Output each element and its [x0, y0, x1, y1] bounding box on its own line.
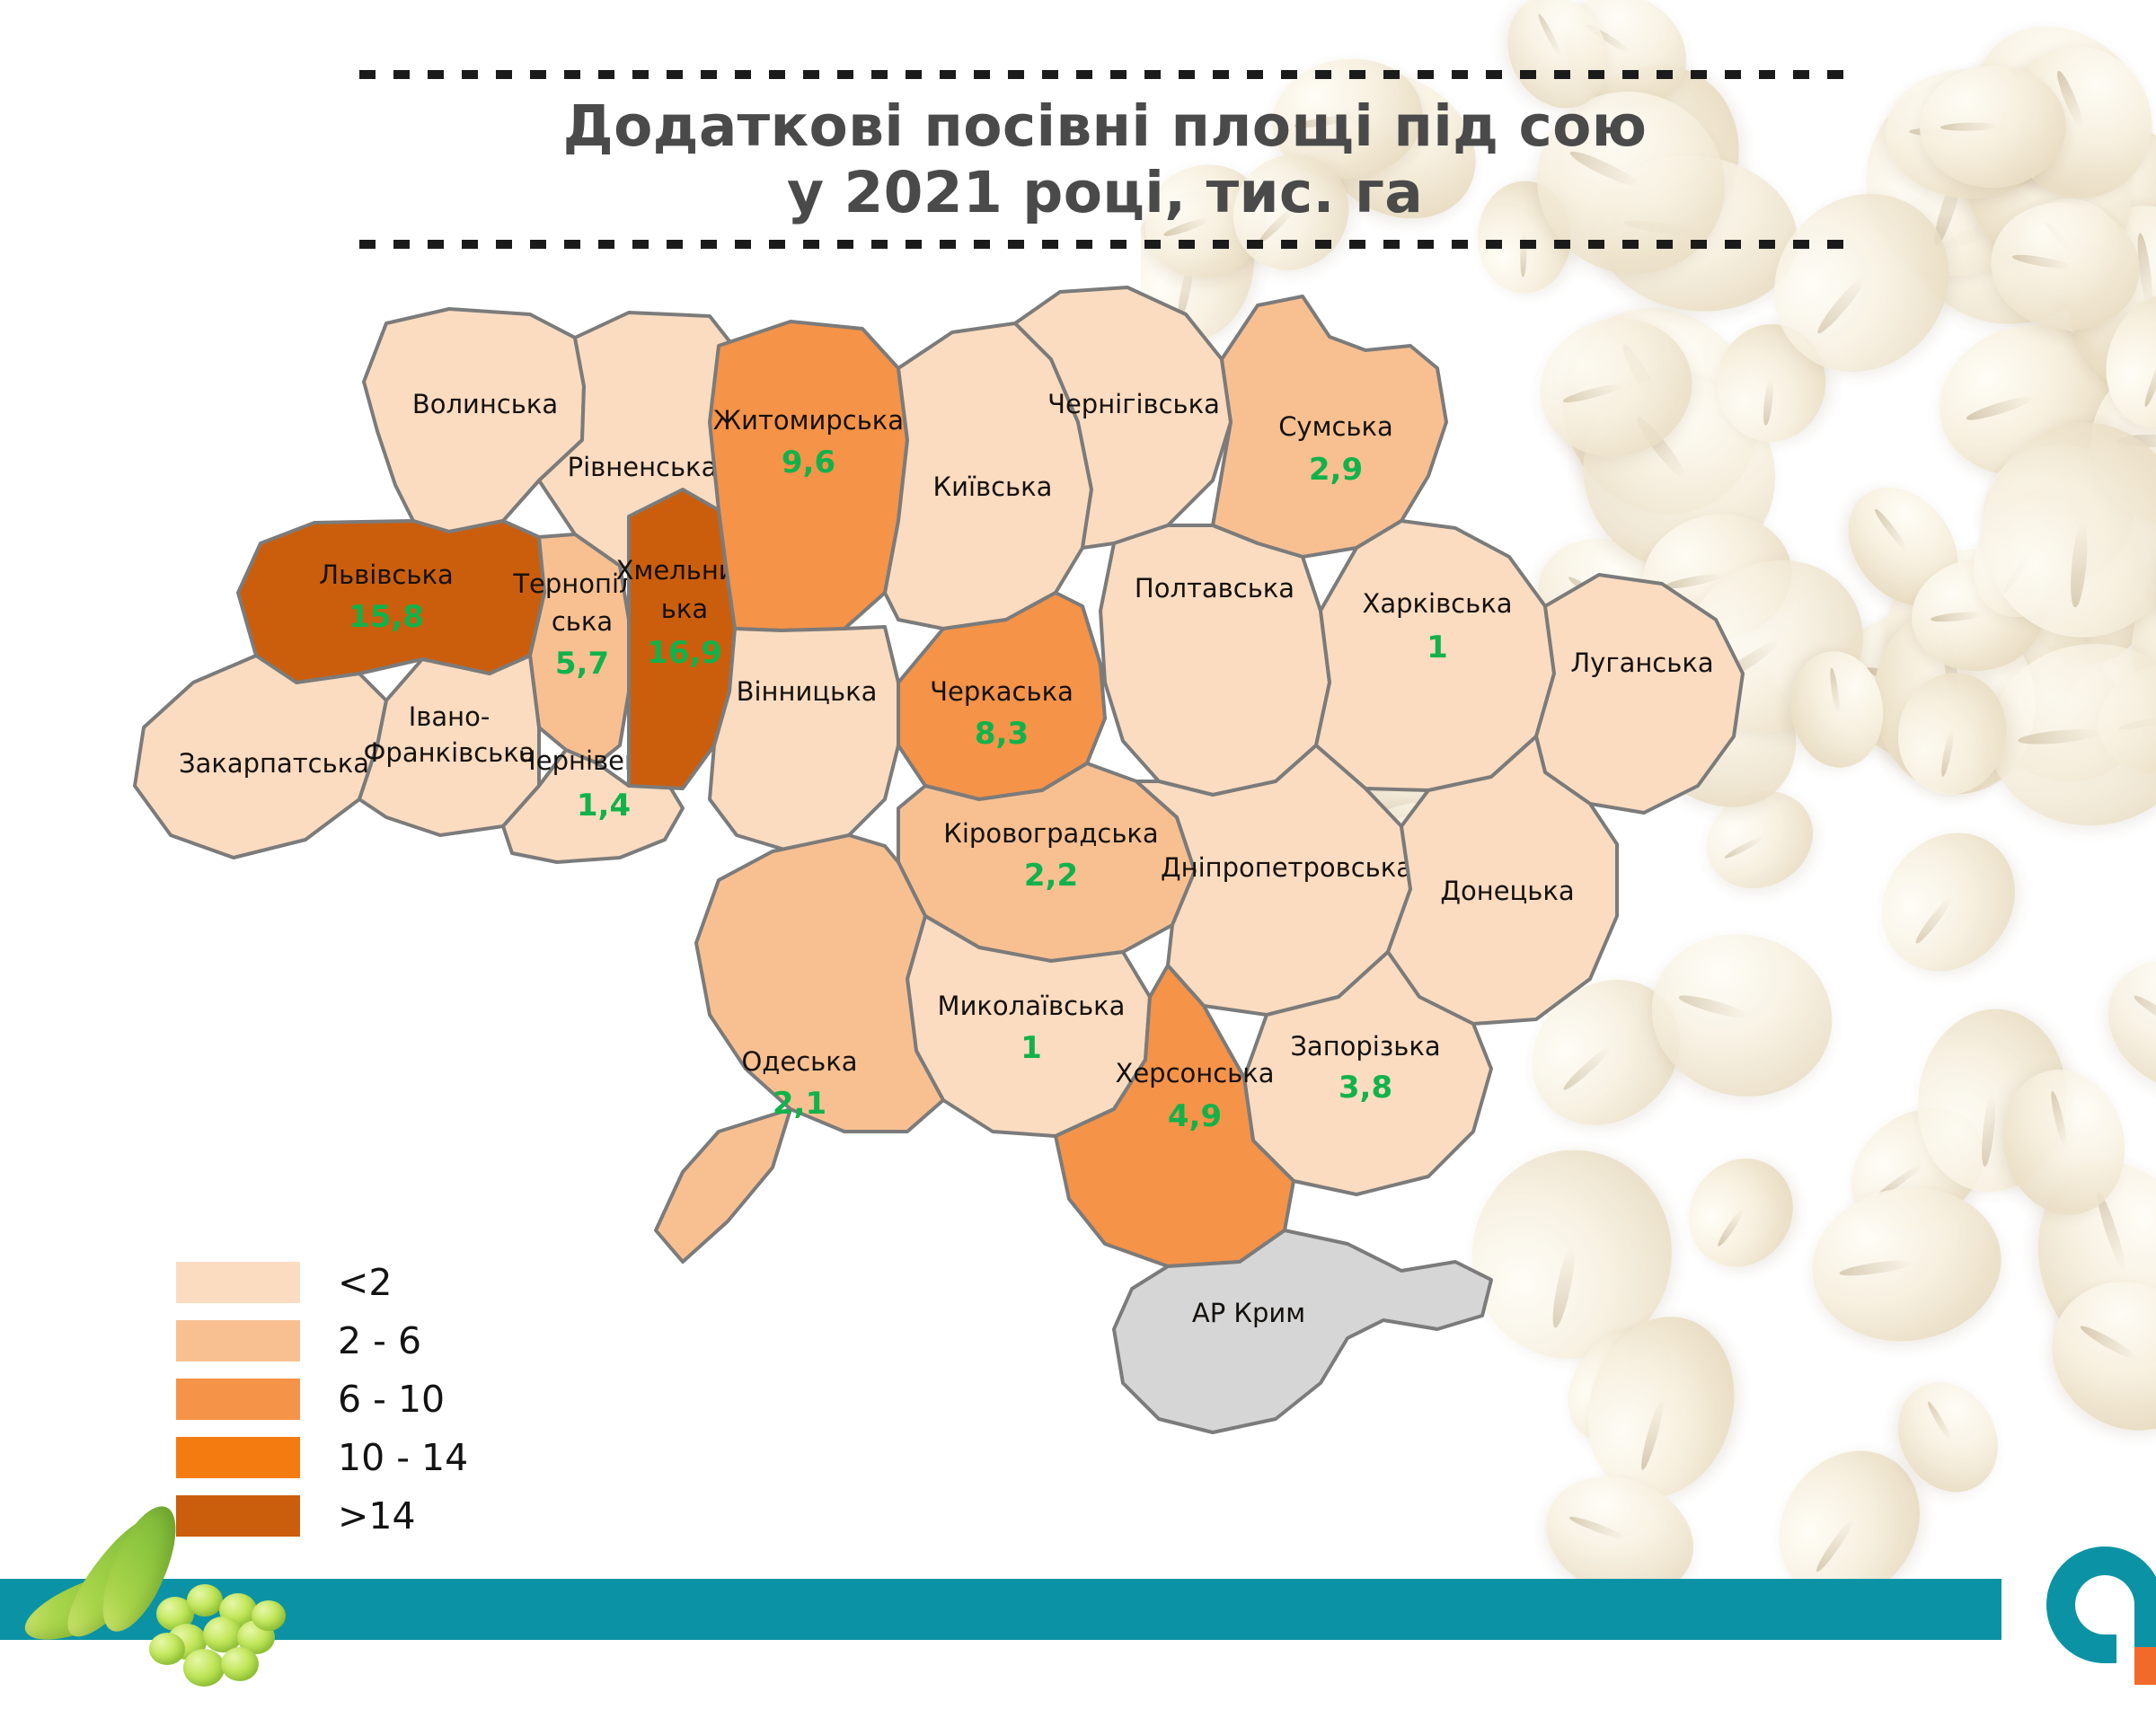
region-label-ivano-line1: Івано-: [409, 701, 490, 732]
region-label-mykolaiv: Миколаївська: [938, 991, 1126, 1021]
legend-item: 10 - 14: [176, 1434, 468, 1481]
dashed-rule-top: [359, 70, 1851, 79]
legend-label: <2: [338, 1264, 392, 1301]
soybean-seed: [183, 1649, 225, 1687]
soybean-seed-decoration: [1982, 471, 2156, 683]
soybean-seed-decoration: [1919, 64, 2068, 189]
brand-logo[interactable]: [2037, 1541, 2156, 1698]
region-sumy[interactable]: Сумська 2,9: [1213, 296, 1446, 557]
soybean-seed: [252, 1600, 286, 1631]
region-value-zaporizhzhia: 3,8: [1339, 1070, 1392, 1106]
dashed-rule-bottom: [359, 240, 1851, 249]
soybean-seed-decoration: [1947, 618, 2156, 807]
region-label-zakarpattia: Закарпатська: [179, 748, 369, 779]
region-label-rivne: Рівненська: [568, 452, 718, 482]
region-value-chernivtsi: 1,4: [577, 788, 631, 824]
region-label-kyiv: Київська: [933, 471, 1053, 502]
region-label-luhansk: Луганська: [1570, 648, 1713, 678]
soybean-seed-decoration: [2093, 537, 2156, 800]
soybean-seed-decoration: [2123, 479, 2156, 732]
soybean-seed-decoration: [1887, 663, 2017, 804]
soybean-seed-decoration: [1841, 53, 2077, 300]
soybean-seed-decoration: [1981, 191, 2150, 342]
region-label-sumy: Сумська: [1278, 411, 1393, 442]
legend-swatch: [176, 1320, 300, 1361]
region-shape-luhansk[interactable]: [1536, 575, 1743, 813]
region-ivano-frankivsk[interactable]: Івано- Франківська: [359, 656, 539, 835]
legend-item: <2: [176, 1259, 468, 1306]
region-zakarpattia[interactable]: Закарпатська: [135, 656, 386, 858]
soybean-seed-decoration: [1884, 67, 2056, 200]
soybean-seed-decoration: [1876, 88, 2150, 355]
soybean-seed-decoration: [2076, 296, 2156, 459]
logo-icon: [2037, 1541, 2156, 1698]
region-vinnytsia[interactable]: Вінницька: [710, 627, 898, 851]
region-poltava[interactable]: Полтавська: [1100, 525, 1330, 795]
region-value-odesa: 2,1: [773, 1086, 826, 1122]
region-luhansk[interactable]: Луганська: [1536, 575, 1743, 813]
region-label-dnipropetrovsk: Дніпропетровська: [1161, 852, 1412, 883]
region-label-chernihiv: Чернігівська: [1047, 389, 1220, 419]
legend-label: 10 - 14: [338, 1440, 468, 1476]
soybean-seed-decoration: [1983, 23, 2156, 220]
region-shape-poltava[interactable]: [1100, 525, 1330, 795]
legend-item: 2 - 6: [176, 1317, 468, 1364]
legend-label: 6 - 10: [338, 1381, 445, 1418]
map-legend: <22 - 66 - 1010 - 14>14: [176, 1259, 468, 1551]
soybean-seed-decoration: [2090, 356, 2156, 529]
region-label-kirovohrad: Кіровоградська: [943, 818, 1158, 849]
region-label-khmelnytskyi-line2: ька: [661, 594, 708, 624]
region-label-volyn: Волинська: [412, 389, 558, 419]
soybean-seed-decoration: [2056, 196, 2156, 405]
region-value-lviv: 15,8: [349, 599, 424, 635]
soybean-seed-decoration: [1931, 61, 2156, 306]
legend-swatch: [176, 1437, 300, 1478]
region-label-zhytomyr: Житомирська: [713, 405, 904, 436]
soybean-seed-decoration: [2013, 1141, 2156, 1388]
soybean-seed-decoration: [1906, 553, 2048, 677]
soybean-seed-decoration: [1944, 0, 2156, 221]
region-value-cherkasy: 8,3: [975, 716, 1029, 752]
soybean-pods-illustration: [16, 1527, 313, 1706]
legend-swatch: [176, 1262, 300, 1303]
region-label-ternopil-line2: ська: [552, 606, 613, 637]
soybean-seed-decoration: [2089, 652, 2156, 786]
region-value-kharkiv: 1: [1427, 630, 1448, 665]
soybean-seed-decoration: [1997, 177, 2145, 326]
soybean-seed: [221, 1647, 259, 1681]
region-label-kherson: Херсонська: [1115, 1058, 1274, 1088]
legend-label: 2 - 6: [338, 1323, 421, 1360]
region-value-khmelnytskyi: 16,9: [647, 635, 722, 671]
region-label-vinnytsia: Вінницька: [737, 676, 878, 707]
soybean-seed-decoration: [2088, 278, 2156, 444]
region-value-mykolaiv: 1: [1021, 1030, 1042, 1066]
region-label-poltava: Полтавська: [1135, 573, 1294, 604]
logo-orange-block: [2134, 1647, 2156, 1685]
soybean-seed-decoration: [1946, 586, 2137, 782]
region-value-ternopil: 5,7: [555, 646, 609, 682]
soybean-seed-decoration: [1980, 441, 2136, 586]
region-label-zaporizhzhia: Запорізька: [1290, 1031, 1440, 1062]
soybean-seed-decoration: [2028, 109, 2156, 267]
page-title: Додаткові посівні площі під сою у 2021 р…: [359, 79, 1851, 240]
soybean-seed-decoration: [1981, 635, 2156, 834]
soybean-seed: [187, 1584, 223, 1617]
region-label-odesa: Одеська: [741, 1046, 857, 1077]
region-label-cherkasy: Черкаська: [930, 676, 1074, 707]
region-label-crimea: АР Крим: [1192, 1298, 1305, 1328]
region-label-lviv: Львівська: [319, 560, 453, 590]
region-label-kharkiv: Харківська: [1362, 588, 1512, 619]
legend-swatch: [176, 1379, 300, 1420]
region-value-zhytomyr: 9,6: [782, 445, 835, 480]
region-shape-vinnytsia[interactable]: [710, 627, 898, 851]
region-odesa[interactable]: Одеська 2,1: [656, 835, 943, 1262]
region-lviv[interactable]: Львівська 15,8: [238, 521, 544, 683]
region-kharkiv[interactable]: Харківська 1: [1316, 521, 1554, 790]
soybean-seed-decoration: [2025, 1254, 2156, 1459]
legend-label: >14: [338, 1498, 416, 1535]
legend-item: 6 - 10: [176, 1376, 468, 1423]
soybean-seed: [149, 1633, 185, 1665]
header: Додаткові посівні площі під сою у 2021 р…: [359, 70, 1851, 249]
region-zhytomyr[interactable]: Житомирська 9,6: [710, 322, 907, 630]
soybean-seed-decoration: [1950, 466, 2113, 639]
region-value-kherson: 4,9: [1168, 1098, 1222, 1134]
region-label-donetsk: Донецька: [1440, 876, 1574, 906]
soybean-seed-decoration: [1974, 414, 2156, 646]
soybean-seed-decoration: [1921, 303, 2134, 498]
soybean-seed-decoration: [1908, 1001, 2075, 1199]
region-value-kirovohrad: 2,2: [1024, 858, 1078, 894]
soybean-seed-decoration: [2083, 935, 2156, 1116]
soybean-seed-decoration: [1989, 1057, 2139, 1227]
soybean-seed-decoration: [2124, 568, 2156, 714]
region-value-sumy: 2,9: [1309, 452, 1363, 488]
region-label-ivano-line2: Франківська: [363, 737, 535, 768]
